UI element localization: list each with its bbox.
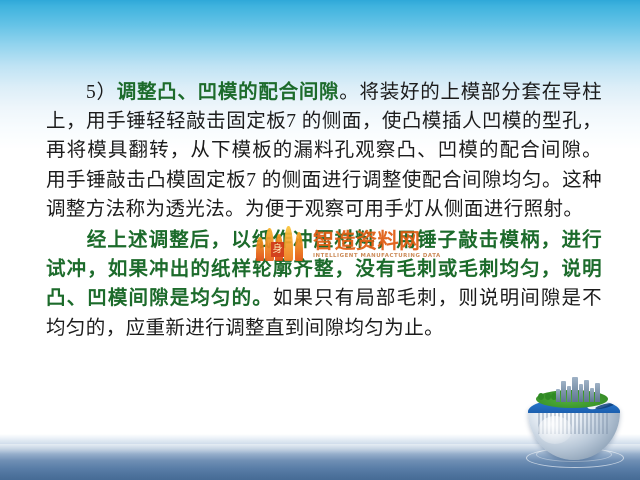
water-band-background xyxy=(0,434,640,480)
paragraph-1-run-1: 5） xyxy=(86,82,117,103)
paragraph-2: 经上述调整后，以纸作冲压材料，用锤子敲击模柄，进行试冲，如果冲出的纸样轮廓齐整，… xyxy=(46,226,602,343)
paragraph-1-run-2-heading: 调整凸、凹模的配合间隙 xyxy=(117,82,340,103)
paragraph-1: 5）调整凸、凹模的配合间隙。将装好的上模部分套在导柱上，用手锤轻轻敲击固定板7 … xyxy=(46,78,602,224)
slide-body-text: 5）调整凸、凹模的配合间隙。将装好的上模部分套在导柱上，用手锤轻轻敲击固定板7 … xyxy=(46,78,602,343)
slide-canvas: 5）调整凸、凹模的配合间隙。将装好的上模部分套在导柱上，用手锤轻轻敲击固定板7 … xyxy=(0,0,640,480)
